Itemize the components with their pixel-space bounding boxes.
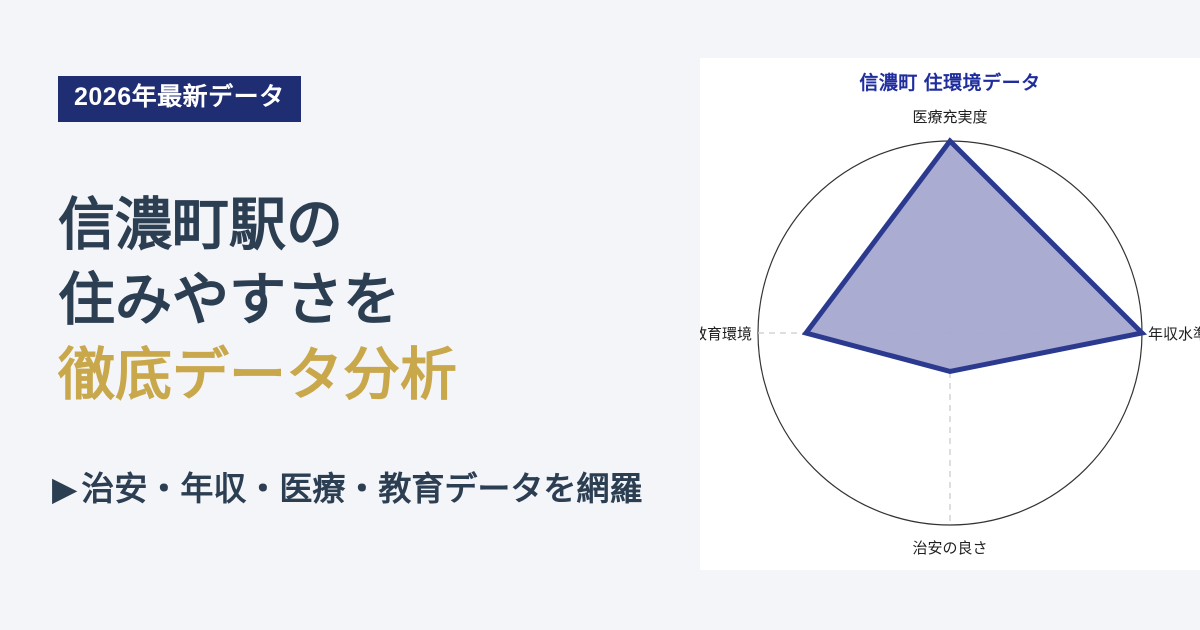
subheadline-text: 治安・年収・医療・教育データを網羅 (81, 470, 642, 507)
radar-chart-panel: 信濃町 住環境データ 医療充実度 年収水準 治安の良さ 教育環境 (700, 58, 1200, 570)
radar-label-left: 教育環境 (700, 325, 752, 343)
headline-line-3-accent: 徹底データ分析 (58, 338, 698, 413)
headline-line-1: 信濃町駅の (58, 188, 698, 263)
radar-data-polygon (806, 141, 1142, 371)
subheadline: ▶治安・年収・医療・教育データを網羅 (52, 462, 642, 510)
radar-label-bottom: 治安の良さ (912, 540, 987, 557)
triangle-marker-icon: ▶ (52, 469, 77, 508)
radar-chart-svg: 医療充実度 年収水準 治安の良さ 教育環境 (700, 58, 1200, 570)
hero-banner: 2026年最新データ 信濃町駅の 住みやすさを 徹底データ分析 ▶治安・年収・医… (0, 0, 1200, 630)
date-badge: 2026年最新データ (58, 76, 301, 122)
editorial-column: 2026年最新データ 信濃町駅の 住みやすさを 徹底データ分析 ▶治安・年収・医… (0, 0, 700, 630)
page-title: 信濃町駅の 住みやすさを 徹底データ分析 (58, 188, 698, 414)
headline-line-2: 住みやすさを (58, 263, 698, 338)
radar-label-right: 年収水準 (1148, 326, 1200, 343)
radar-label-top: 医療充実度 (912, 109, 987, 126)
